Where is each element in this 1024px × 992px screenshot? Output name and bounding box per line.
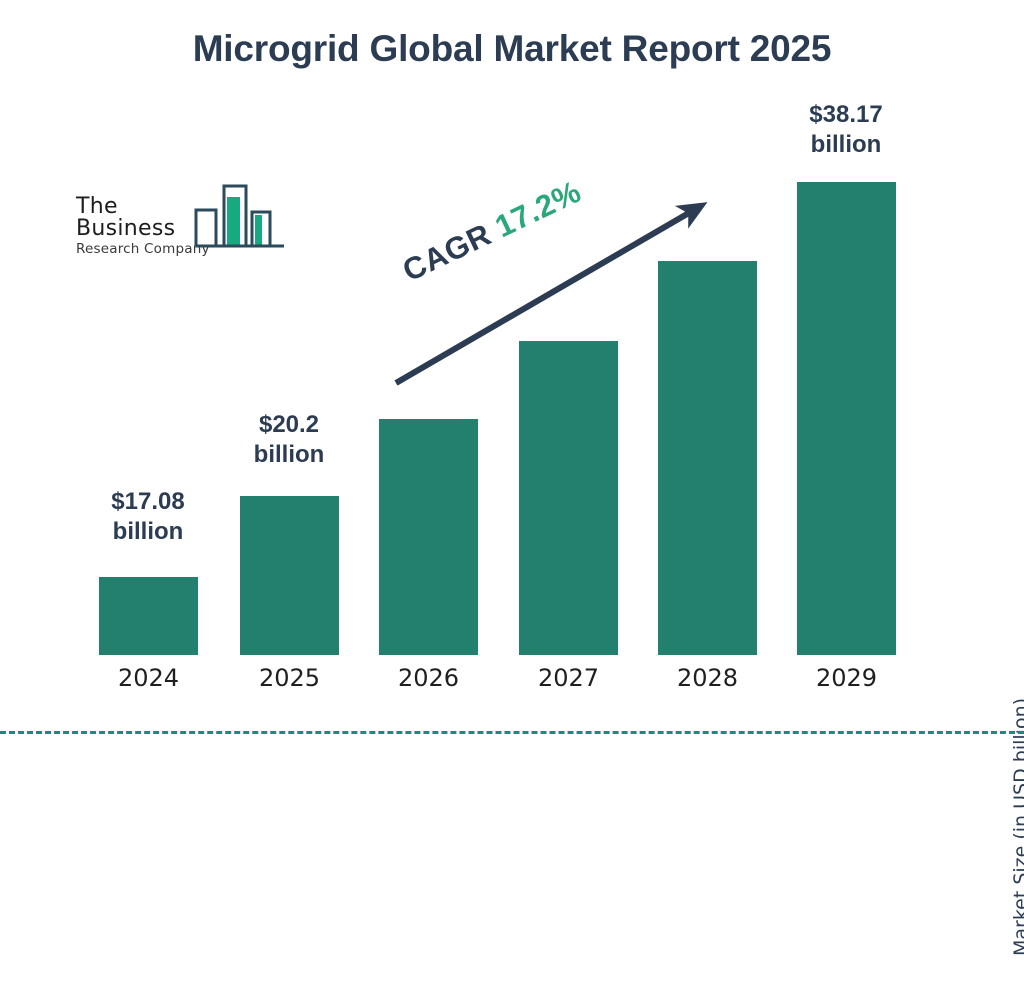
y-axis-title: Market Size (in USD billion) — [1010, 662, 1024, 992]
cagr-value: 17.2% — [490, 174, 587, 245]
x-tick-2024: 2024 — [99, 664, 198, 692]
bar-2026 — [379, 419, 478, 655]
bar-value-2024: $17.08 billion — [78, 487, 218, 548]
x-tick-2025: 2025 — [240, 664, 339, 692]
x-tick-2029: 2029 — [797, 664, 896, 692]
x-tick-2027: 2027 — [519, 664, 618, 692]
bar-2028 — [658, 261, 757, 655]
cagr-word: CAGR — [397, 217, 496, 289]
x-tick-2028: 2028 — [658, 664, 757, 692]
x-tick-2026: 2026 — [379, 664, 478, 692]
plot-area: $17.08 billion $20.2 billion $38.17 bill… — [0, 0, 1024, 768]
bar-2029 — [797, 182, 896, 655]
bar-2027 — [519, 341, 618, 655]
bar-value-2025: $20.2 billion — [219, 410, 359, 471]
bar-2025 — [240, 496, 339, 655]
chart-root: Microgrid Global Market Report 2025 The … — [0, 0, 1024, 768]
bar-value-2029: $38.17 billion — [776, 100, 916, 161]
bar-2024 — [99, 577, 198, 655]
cagr-annotation: CAGR 17.2% — [397, 174, 587, 290]
footer-divider — [0, 731, 1024, 734]
